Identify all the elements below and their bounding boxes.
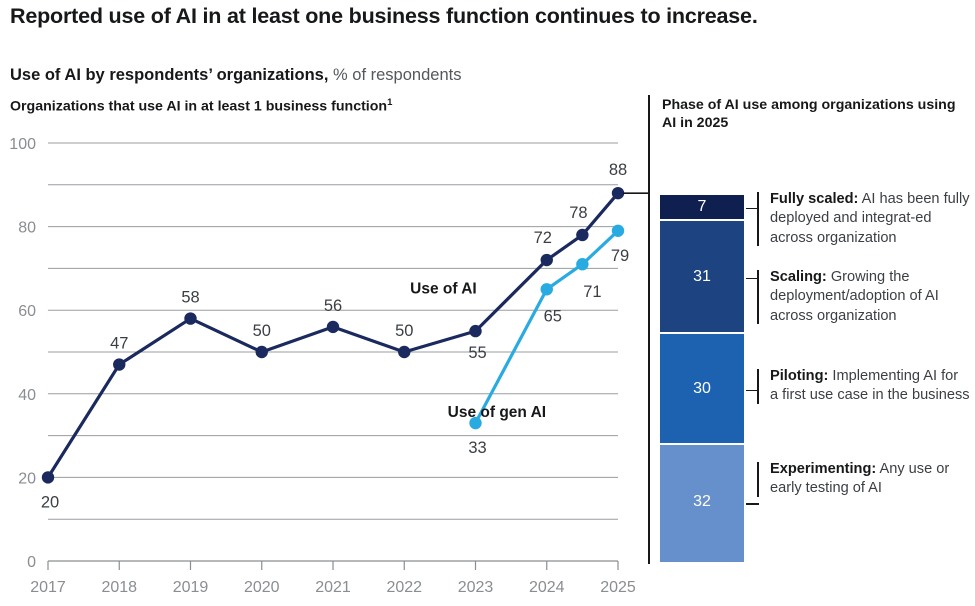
y-axis-tick-label: 0 xyxy=(27,554,36,571)
x-axis-tick-label: 2021 xyxy=(315,579,351,596)
x-axis-tick-label: 2022 xyxy=(386,579,422,596)
series-annotation: Use of gen AI xyxy=(448,404,546,421)
subtitle: Use of AI by respondents’ organizations,… xyxy=(10,66,461,84)
x-axis xyxy=(48,561,618,570)
y-axis-tick-label: 100 xyxy=(9,136,36,153)
data-point-marker xyxy=(256,346,268,358)
data-point-marker xyxy=(184,312,196,324)
stacked-bar-chart: 7313032 xyxy=(660,195,744,562)
data-point-label: 20 xyxy=(41,493,59,511)
data-point-label: 55 xyxy=(468,344,486,362)
data-point-marker xyxy=(398,346,410,358)
line-chart-svg: 020406080100 201720182019202020212022202… xyxy=(0,120,648,606)
data-point-marker xyxy=(327,321,339,333)
data-point-marker xyxy=(541,254,553,266)
phase-callout-label: Experimenting: xyxy=(770,461,876,477)
phase-callout-text: Experimenting: Any use or early testing … xyxy=(770,460,970,499)
y-axis-tick-label: 40 xyxy=(18,387,36,404)
data-point-label: 65 xyxy=(544,307,562,325)
data-point-marker xyxy=(576,258,588,270)
phase-callout-text: Scaling: Growing the deployment/adoption… xyxy=(770,268,970,326)
callout-bracket xyxy=(757,192,759,246)
data-point-label: 56 xyxy=(324,297,342,315)
data-point-label: 47 xyxy=(110,335,128,353)
callout-dash xyxy=(746,503,759,505)
x-axis-tick-label: 2020 xyxy=(244,579,280,596)
x-axis-tick-label: 2023 xyxy=(458,579,494,596)
data-point-marker xyxy=(612,225,624,237)
bar-segment: 7 xyxy=(660,195,744,221)
data-point-marker xyxy=(612,187,624,199)
callout-dash xyxy=(746,208,759,210)
left-panel-heading-text: Organizations that use AI in at least 1 … xyxy=(10,99,387,115)
phase-callout-text: Fully scaled: AI has been fully deployed… xyxy=(770,190,970,248)
line-chart: 020406080100 201720182019202020212022202… xyxy=(0,120,648,606)
data-point-marker xyxy=(541,283,553,295)
x-axis-tick-label: 2024 xyxy=(529,579,565,596)
callout-bracket xyxy=(757,462,759,497)
data-point-marker xyxy=(469,325,481,337)
phase-callout-label: Fully scaled: xyxy=(770,191,858,207)
data-point-label: 88 xyxy=(609,161,627,179)
subtitle-bold: Use of AI by respondents’ organizations, xyxy=(10,66,328,84)
bar-segment: 30 xyxy=(660,334,744,444)
y-axis-tick-label: 60 xyxy=(18,303,36,320)
x-axis-tick-label: 2018 xyxy=(101,579,137,596)
left-panel-heading: Organizations that use AI in at least 1 … xyxy=(10,97,392,115)
data-point-label: 72 xyxy=(534,229,552,247)
y-axis-tick-label: 80 xyxy=(18,220,36,237)
phase-callout-label: Piloting: xyxy=(770,368,828,384)
data-point-label: 33 xyxy=(468,439,486,457)
phase-callout-text: Piloting: Implementing AI for a first us… xyxy=(770,367,970,406)
footnote-marker: 1 xyxy=(387,97,392,108)
bar-segment-value: 31 xyxy=(660,268,744,286)
data-point-label: 71 xyxy=(583,283,601,301)
data-point-label: 50 xyxy=(395,322,413,340)
callout-bracket xyxy=(757,369,759,404)
callout-dash xyxy=(746,390,759,392)
series-annotation: Use of AI xyxy=(410,280,477,297)
data-point-label: 58 xyxy=(181,289,199,307)
bar-segment-value: 30 xyxy=(660,380,744,398)
data-point-label: 78 xyxy=(569,204,587,222)
data-point-marker xyxy=(42,471,54,483)
bar-segment: 31 xyxy=(660,221,744,335)
data-point-marker xyxy=(576,229,588,241)
data-point-labels: 2047585056505572788833657179 xyxy=(41,161,629,511)
data-point-label: 79 xyxy=(611,247,629,265)
callout-dash xyxy=(746,278,759,280)
x-axis-tick-label: 2025 xyxy=(600,579,636,596)
x-axis-tick-label: 2019 xyxy=(173,579,209,596)
y-axis-labels: 020406080100 xyxy=(9,136,36,571)
subtitle-gray: % of respondents xyxy=(328,66,461,84)
bar-segment: 32 xyxy=(660,445,744,562)
phase-callout-label: Scaling: xyxy=(770,269,827,285)
x-axis-labels: 201720182019202020212022202320242025 xyxy=(30,579,636,596)
data-point-marker xyxy=(113,358,125,370)
y-axis-tick-label: 20 xyxy=(18,470,36,487)
x-axis-tick-label: 2017 xyxy=(30,579,66,596)
data-point-label: 50 xyxy=(253,322,271,340)
right-panel-heading: Phase of AI use among organizations usin… xyxy=(662,96,967,132)
page-title: Reported use of AI in at least one busin… xyxy=(10,4,960,29)
bar-segment-value: 32 xyxy=(660,493,744,511)
series-line xyxy=(48,193,618,477)
bar-segment-value: 7 xyxy=(660,198,744,216)
panel-divider xyxy=(648,95,650,564)
